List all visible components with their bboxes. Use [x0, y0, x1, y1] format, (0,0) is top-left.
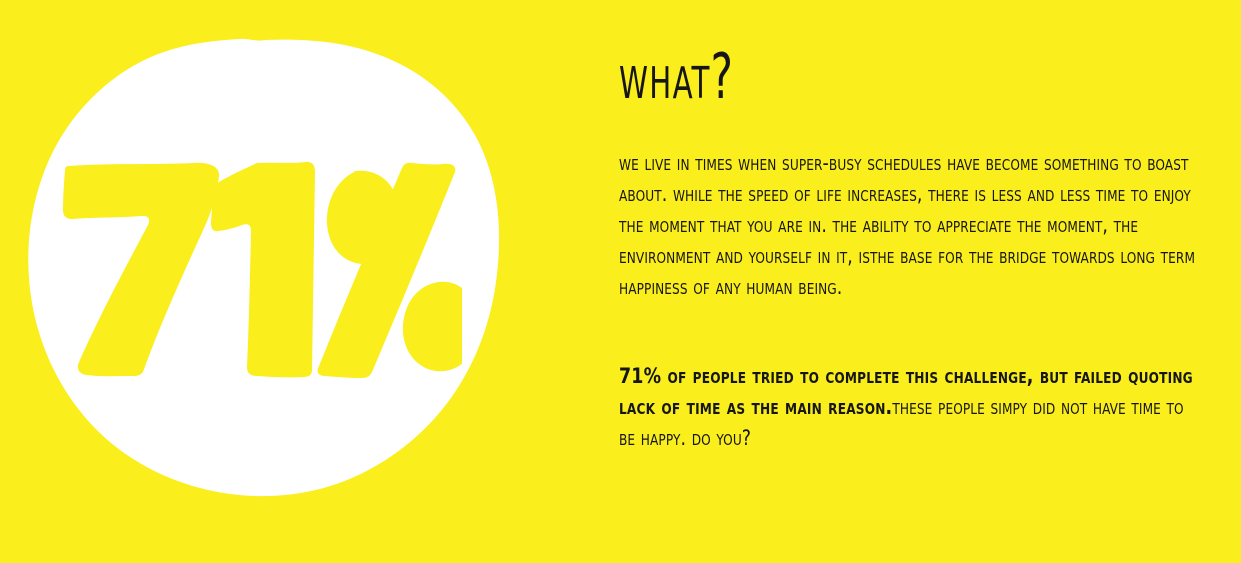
- body-copy: We live in times when super-busy schedul…: [619, 148, 1204, 454]
- stat-paragraph: 71% of people tried to complete this cha…: [619, 361, 1202, 454]
- slide-canvas: 71% What? We live in times when super-bu…: [0, 0, 1241, 563]
- copy-panel: What? We live in times when super-busy s…: [619, 0, 1219, 563]
- intro-paragraph: We live in times when super-busy schedul…: [619, 148, 1202, 303]
- statistic-panel: 71%: [0, 0, 560, 563]
- statistic-value-71-percent: [62, 160, 462, 380]
- page-title: What?: [619, 46, 734, 109]
